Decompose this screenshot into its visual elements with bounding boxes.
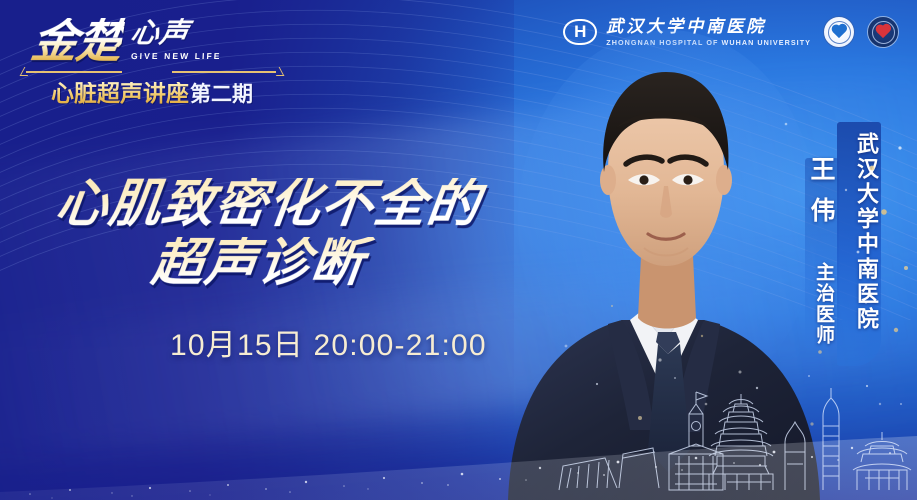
logo-secondary-text: 心声 bbox=[129, 19, 225, 47]
lecture-promo-banner: 金楚 心声 GIVE NEW LIFE 心脏超声讲座 第二期 H 武汉大学中南医… bbox=[0, 0, 917, 500]
title-line-1: 心肌致密化不全的 bbox=[53, 178, 540, 231]
divider-tick-right bbox=[272, 67, 285, 76]
logo-english-tagline: GIVE NEW LIFE bbox=[131, 51, 222, 61]
speaker-role: 主治医师 bbox=[805, 262, 833, 346]
speaker-portrait-photo bbox=[498, 20, 828, 500]
speaker-name: 王伟 bbox=[803, 156, 833, 238]
speaker-organization: 武汉大学中南医院 bbox=[841, 132, 877, 332]
logo-primary-row: 金楚 心声 GIVE NEW LIFE bbox=[22, 8, 282, 64]
hospital-seal-badge-icon bbox=[867, 16, 899, 48]
logo-secondary-group: 心声 GIVE NEW LIFE bbox=[131, 19, 222, 64]
logo-divider-rules bbox=[22, 66, 282, 78]
logo-main-text: 金楚 bbox=[28, 18, 125, 64]
program-logo: 金楚 心声 GIVE NEW LIFE 心脏超声讲座 第二期 bbox=[22, 8, 282, 104]
divider-bar-left bbox=[26, 71, 122, 73]
title-line-2: 超声诊断 bbox=[53, 237, 540, 290]
lecture-datetime: 10月15日 20:00-21:00 bbox=[170, 320, 487, 364]
series-title-text: 心脏超声讲座 bbox=[51, 82, 189, 105]
lecture-title: 心肌致密化不全的 超声诊断 bbox=[56, 178, 536, 290]
series-subtitle-row: 心脏超声讲座 第二期 bbox=[22, 82, 282, 105]
series-episode-text: 第二期 bbox=[190, 84, 253, 105]
divider-bar-right bbox=[172, 71, 276, 73]
